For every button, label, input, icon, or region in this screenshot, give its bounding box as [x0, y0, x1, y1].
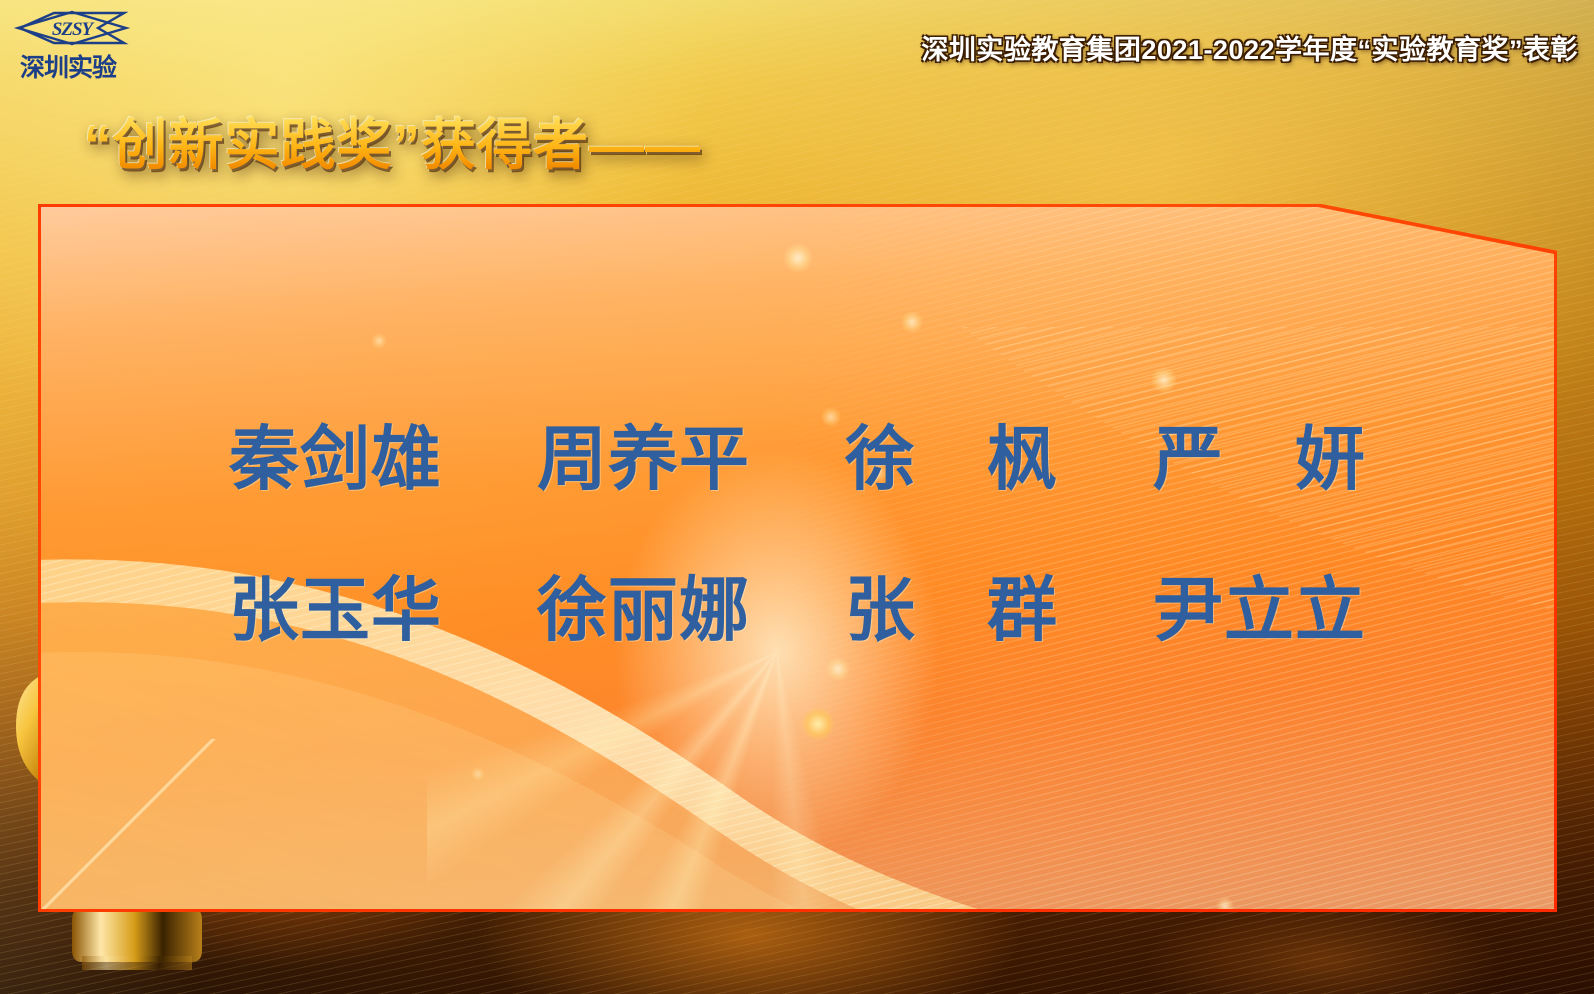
- bokeh-particle: [801, 707, 835, 741]
- awardees-panel: 秦剑雄 周养平 徐 枫 严 妍 张玉华 徐丽娜 张 群 尹立立: [38, 204, 1557, 912]
- slide-title: “创新实践奖”获得者——: [84, 100, 701, 180]
- svg-text:SZSY: SZSY: [52, 19, 96, 40]
- awardee-name: 严 妍: [1106, 403, 1414, 504]
- awardee-name: 张玉华: [182, 554, 490, 655]
- awardee-name: 尹立立: [1106, 554, 1414, 655]
- bokeh-particle: [826, 657, 850, 681]
- bokeh-particle: [1216, 897, 1234, 909]
- awardees-list: 秦剑雄 周养平 徐 枫 严 妍 张玉华 徐丽娜 张 群 尹立立: [41, 403, 1554, 655]
- awardee-name: 徐 枫: [798, 403, 1106, 504]
- svg-text:深圳实验: 深圳实验: [20, 53, 117, 82]
- event-title: 深圳实验教育集团2021-2022学年度“实验教育奖”表彰: [921, 28, 1578, 67]
- awardee-name: 张 群: [798, 554, 1106, 655]
- diamond-logo-icon: SZSY 深圳实验: [12, 6, 136, 86]
- presentation-slide: 秦剑雄 周养平 徐 枫 严 妍 张玉华 徐丽娜 张 群 尹立立: [0, 0, 1594, 994]
- bokeh-particle: [471, 767, 485, 781]
- awardee-row: 秦剑雄 周养平 徐 枫 严 妍: [41, 403, 1554, 504]
- awardee-name: 徐丽娜: [490, 554, 798, 655]
- bokeh-particle: [1151, 367, 1177, 393]
- awardee-row: 张玉华 徐丽娜 张 群 尹立立: [41, 554, 1554, 655]
- awardee-name: 秦剑雄: [182, 403, 490, 504]
- bokeh-particle: [371, 333, 387, 349]
- awardee-name: 周养平: [490, 403, 798, 504]
- panel-fill: 秦剑雄 周养平 徐 枫 严 妍 张玉华 徐丽娜 张 群 尹立立: [41, 207, 1554, 909]
- bokeh-particle: [783, 243, 813, 273]
- bokeh-particle: [901, 311, 923, 333]
- slide-header: SZSY 深圳实验 深圳实验教育集团2021-2022学年度“实验教育奖”表彰: [0, 0, 1594, 98]
- panel-corner-chamfer: [41, 739, 216, 909]
